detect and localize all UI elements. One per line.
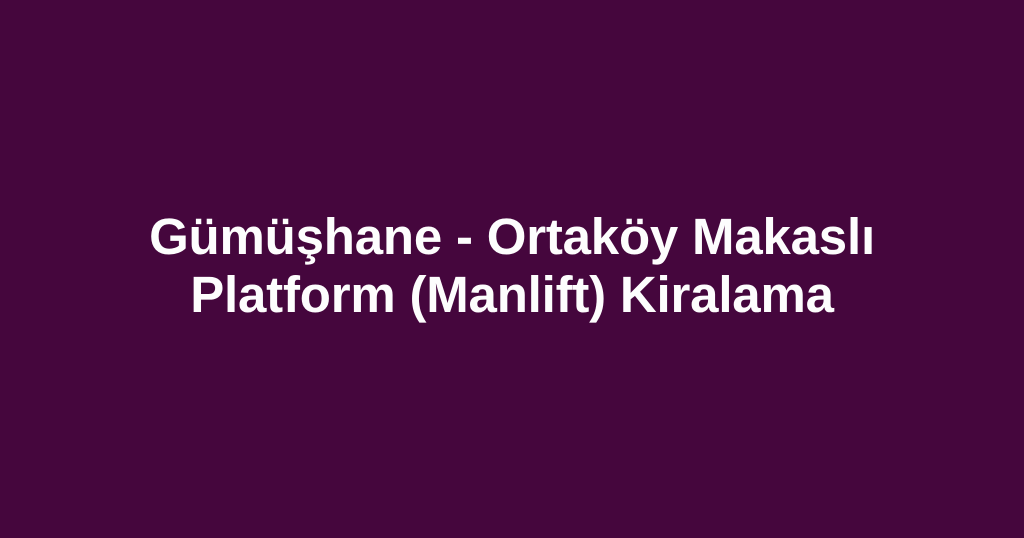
page-title: Gümüşhane - Ortaköy Makaslı Platform (Ma… xyxy=(132,208,892,324)
share-card-banner: Gümüşhane - Ortaköy Makaslı Platform (Ma… xyxy=(0,0,1024,538)
title-block: Gümüşhane - Ortaköy Makaslı Platform (Ma… xyxy=(132,208,892,324)
